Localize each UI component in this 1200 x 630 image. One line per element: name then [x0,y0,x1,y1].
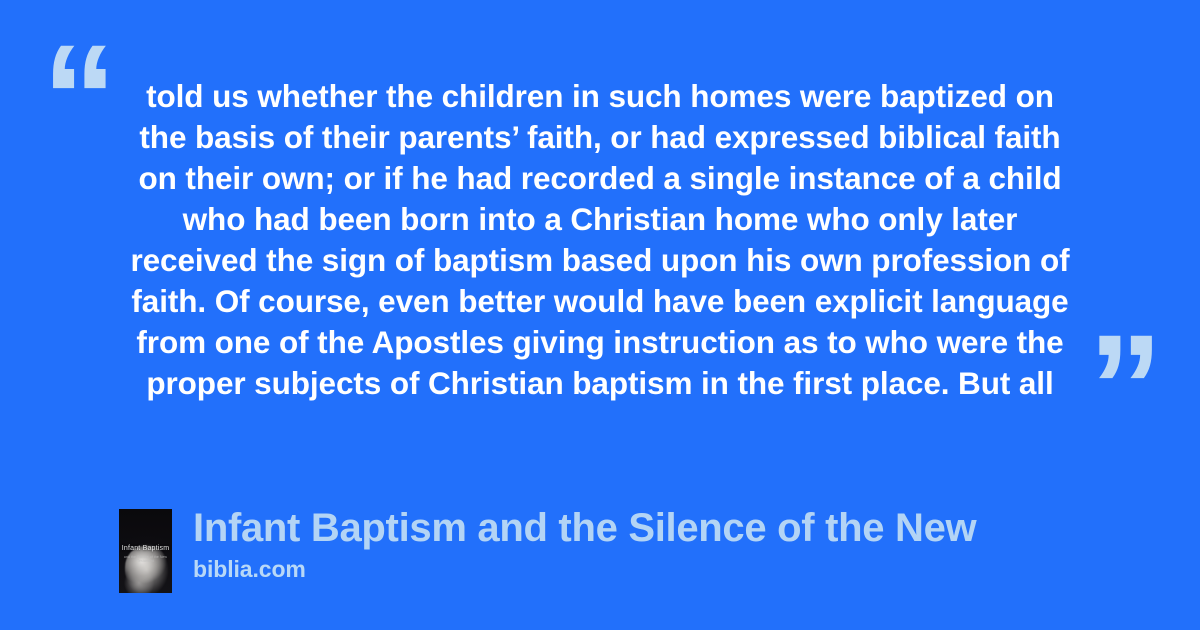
quote-line: proper subjects of Christian baptism in … [110,363,1090,404]
quote-line: who had been born into a Christian home … [110,199,1090,240]
quote-line: the basis of their parents’ faith, or ha… [110,117,1090,158]
infant-illustration-icon [125,546,167,590]
book-cover-thumbnail: Infant Baptism and the Silence of the Ne… [119,509,172,593]
source-attribution: Infant Baptism and the Silence of the Ne… [119,505,976,593]
article-title[interactable]: Infant Baptism and the Silence of the Ne… [193,505,976,551]
quote-line: on their own; or if he had recorded a si… [110,158,1090,199]
quote-line: from one of the Apostles giving instruct… [110,322,1090,363]
quote-line: received the sign of baptism based upon … [110,240,1090,281]
open-quote-icon: “ [42,22,115,172]
book-cover-title: Infant Baptism [119,545,172,552]
book-cover-subtitle: and the Silence of the New Testament [119,555,172,563]
quote-card: “ told us whether the children in such h… [0,0,1200,630]
quote-line: told us whether the children in such hom… [110,76,1090,117]
quote-line: faith. Of course, even better would have… [110,281,1090,322]
source-text-group: Infant Baptism and the Silence of the Ne… [193,505,976,582]
source-domain[interactable]: biblia.com [193,556,976,582]
close-quote-icon: ” [1088,312,1161,462]
quote-text-block: told us whether the children in such hom… [110,76,1090,404]
